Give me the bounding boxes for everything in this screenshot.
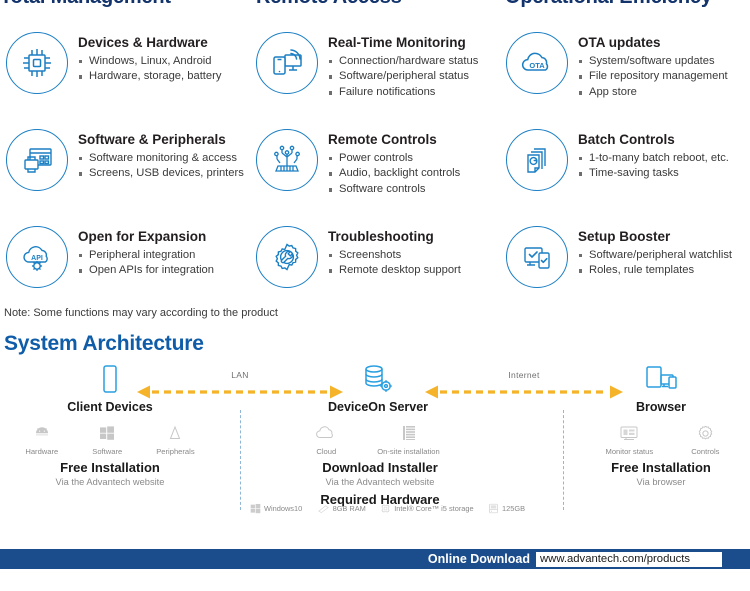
feature-bullet: App store — [578, 85, 728, 101]
sub-item: Software — [92, 422, 122, 456]
server-sub-items: Cloud On-site installation — [290, 422, 465, 456]
feature-bullet: 1-to-many batch reboot, etc. — [578, 151, 729, 167]
required-hardware-list: Windows10 8GB RAM Intel® Core™ i5 storag… — [250, 503, 525, 514]
hardware-item-cpu: Intel® Core™ i5 storage — [380, 503, 473, 514]
feature-grid: Devices & Hardware Windows, Linux, Andro… — [0, 26, 750, 317]
hardware-item-storage: 125GB — [488, 503, 525, 514]
feature-bullet: Screenshots — [328, 248, 461, 264]
feature-bullet: File repository management — [578, 69, 728, 85]
column-heading-operational-efficiency: Operational Efficiency — [505, 0, 712, 9]
feature-card-remote-controls: Remote Controls Power controls Audio, ba… — [250, 123, 500, 220]
feature-title: Remote Controls — [328, 132, 460, 148]
feature-card-ota-updates: OTA OTA updates System/software updates … — [500, 26, 745, 123]
cloud-icon — [315, 422, 337, 444]
feature-bullet: Software controls — [328, 182, 460, 198]
feature-card-troubleshooting: Troubleshooting Screenshots Remote deskt… — [250, 220, 500, 317]
double-arrow-dashed-icon — [425, 384, 623, 400]
feature-card-devices-hardware: Devices & Hardware Windows, Linux, Andro… — [0, 26, 250, 123]
feature-bullet: Software monitoring & access — [78, 151, 244, 167]
feature-card-batch-controls: Batch Controls 1-to-many batch reboot, e… — [500, 123, 745, 220]
sub-item: Monitor status — [606, 422, 654, 456]
feature-title: Setup Booster — [578, 229, 732, 245]
windows-icon — [250, 503, 261, 514]
feature-bullet: Hardware, storage, battery — [78, 69, 221, 85]
software-peripherals-icon — [6, 129, 68, 191]
feature-bullet: System/software updates — [578, 54, 728, 70]
sub-item-label: Cloud — [315, 447, 337, 456]
feature-bullets: Power controls Audio, backlight controls… — [328, 151, 460, 199]
feature-card-real-time-monitoring: Real-Time Monitoring Connection/hardware… — [250, 26, 500, 123]
download-url-box[interactable]: www.advantech.com/products — [536, 552, 722, 567]
android-icon — [25, 422, 58, 444]
block-subtitle: Via browser — [585, 477, 737, 487]
link-label: LAN — [137, 370, 343, 380]
monitor-status-icon — [606, 422, 654, 444]
feature-bullet: Peripheral integration — [78, 248, 214, 264]
block-client-installation: Free Installation Via the Advantech webs… — [34, 460, 186, 487]
double-arrow-dashed-icon — [137, 384, 343, 400]
feature-bullet: Failure notifications — [328, 85, 478, 101]
remote-controls-icon — [256, 129, 318, 191]
feature-bullets: 1-to-many batch reboot, etc. Time-saving… — [578, 151, 729, 183]
block-title: Download Installer — [292, 460, 468, 475]
feature-bullet: Windows, Linux, Android — [78, 54, 221, 70]
online-download-label: Online Download — [428, 552, 530, 566]
hardware-item-label: Windows10 — [264, 504, 302, 513]
feature-row: Software & Peripherals Software monitori… — [0, 123, 750, 220]
feature-bullet: Connection/hardware status — [328, 54, 478, 70]
separator-client-server — [240, 410, 241, 510]
feature-title: Batch Controls — [578, 132, 729, 148]
sub-item: On-site installation — [377, 422, 439, 456]
sub-item-label: Peripherals — [156, 447, 194, 456]
feature-card-open-for-expansion: API Open for Expansion Peripheral integr… — [0, 220, 250, 317]
feature-bullets: Windows, Linux, Android Hardware, storag… — [78, 54, 221, 86]
realtime-monitor-icon — [256, 32, 318, 94]
column-headings: Total Management Remote Access Operation… — [0, 0, 750, 8]
client-sub-items: Hardware Software Peripherals — [10, 422, 210, 456]
browser-sub-items: Monitor status Controls — [585, 422, 740, 456]
batch-controls-icon — [506, 129, 568, 191]
infographic-page: Total Management Remote Access Operation… — [0, 0, 750, 591]
feature-bullets: System/software updates File repository … — [578, 54, 728, 102]
linux-icon — [156, 422, 194, 444]
troubleshooting-gear-wrench-icon — [256, 226, 318, 288]
block-subtitle: Via the Advantech website — [292, 477, 468, 487]
sub-item-label: Monitor status — [606, 447, 654, 456]
api-cloud-icon: API — [6, 226, 68, 288]
windows-icon — [92, 422, 122, 444]
hdd-icon — [488, 503, 499, 514]
block-title: Free Installation — [34, 460, 186, 475]
sub-item-label: Hardware — [25, 447, 58, 456]
feature-bullet: Audio, backlight controls — [328, 166, 460, 182]
feature-title: Open for Expansion — [78, 229, 214, 245]
feature-bullet: Open APIs for integration — [78, 263, 214, 279]
feature-bullets: Connection/hardware status Software/peri… — [328, 54, 478, 102]
hardware-item-windows: Windows10 — [250, 503, 302, 514]
sub-item: Hardware — [25, 422, 58, 456]
section-title-system-architecture: System Architecture — [4, 332, 204, 356]
download-url-text: www.advantech.com/products — [536, 553, 690, 565]
svg-text:OTA: OTA — [529, 61, 545, 70]
link-lan: LAN — [137, 384, 343, 408]
sub-item-label: On-site installation — [377, 447, 439, 456]
feature-bullet: Screens, USB devices, printers — [78, 166, 244, 182]
ram-stick-icon — [317, 504, 330, 514]
hardware-item-ram: 8GB RAM — [317, 504, 366, 514]
controls-gear-icon — [691, 422, 719, 444]
block-subtitle: Via the Advantech website — [34, 477, 186, 487]
feature-card-setup-booster: Setup Booster Software/peripheral watchl… — [500, 220, 745, 317]
block-browser-installation: Free Installation Via browser — [585, 460, 737, 487]
feature-title: Software & Peripherals — [78, 132, 244, 148]
feature-bullets: Software/peripheral watchlist Roles, rul… — [578, 248, 732, 280]
sub-item-label: Software — [92, 447, 122, 456]
separator-server-browser — [563, 410, 564, 510]
column-heading-total-management: Total Management — [0, 0, 171, 9]
setup-booster-icon — [506, 226, 568, 288]
server-rack-icon — [377, 422, 439, 444]
feature-title: Devices & Hardware — [78, 35, 221, 51]
column-heading-remote-access: Remote Access — [256, 0, 402, 9]
hardware-item-label: 125GB — [502, 504, 525, 513]
feature-bullets: Screenshots Remote desktop support — [328, 248, 461, 280]
chip-icon — [6, 32, 68, 94]
feature-bullet: Roles, rule templates — [578, 263, 732, 279]
product-variation-note: Note: Some functions may vary according … — [4, 307, 278, 319]
ota-cloud-icon: OTA — [506, 32, 568, 94]
feature-bullet: Remote desktop support — [328, 263, 461, 279]
block-server-installer: Download Installer Via the Advantech web… — [292, 460, 468, 487]
feature-bullet: Power controls — [328, 151, 460, 167]
feature-bullet: Software/peripheral watchlist — [578, 248, 732, 264]
feature-bullet: Time-saving tasks — [578, 166, 729, 182]
feature-title: OTA updates — [578, 35, 728, 51]
sub-item: Peripherals — [156, 422, 194, 456]
link-label: Internet — [425, 370, 623, 380]
footer-bar: Online Download www.advantech.com/produc… — [0, 549, 750, 569]
feature-card-software-peripherals: Software & Peripherals Software monitori… — [0, 123, 250, 220]
sub-item-label: Controls — [691, 447, 719, 456]
feature-bullets: Peripheral integration Open APIs for int… — [78, 248, 214, 280]
feature-bullet: Software/peripheral status — [328, 69, 478, 85]
cpu-icon — [380, 503, 391, 514]
sub-item: Controls — [691, 422, 719, 456]
hardware-item-label: Intel® Core™ i5 storage — [394, 504, 473, 513]
block-title: Free Installation — [585, 460, 737, 475]
feature-title: Troubleshooting — [328, 229, 461, 245]
sub-item: Cloud — [315, 422, 337, 456]
feature-bullets: Software monitoring & access Screens, US… — [78, 151, 244, 183]
feature-title: Real-Time Monitoring — [328, 35, 478, 51]
hardware-item-label: 8GB RAM — [333, 504, 366, 513]
link-internet: Internet — [425, 384, 623, 408]
feature-row: Devices & Hardware Windows, Linux, Andro… — [0, 26, 750, 123]
feature-row: API Open for Expansion Peripheral integr… — [0, 220, 750, 317]
